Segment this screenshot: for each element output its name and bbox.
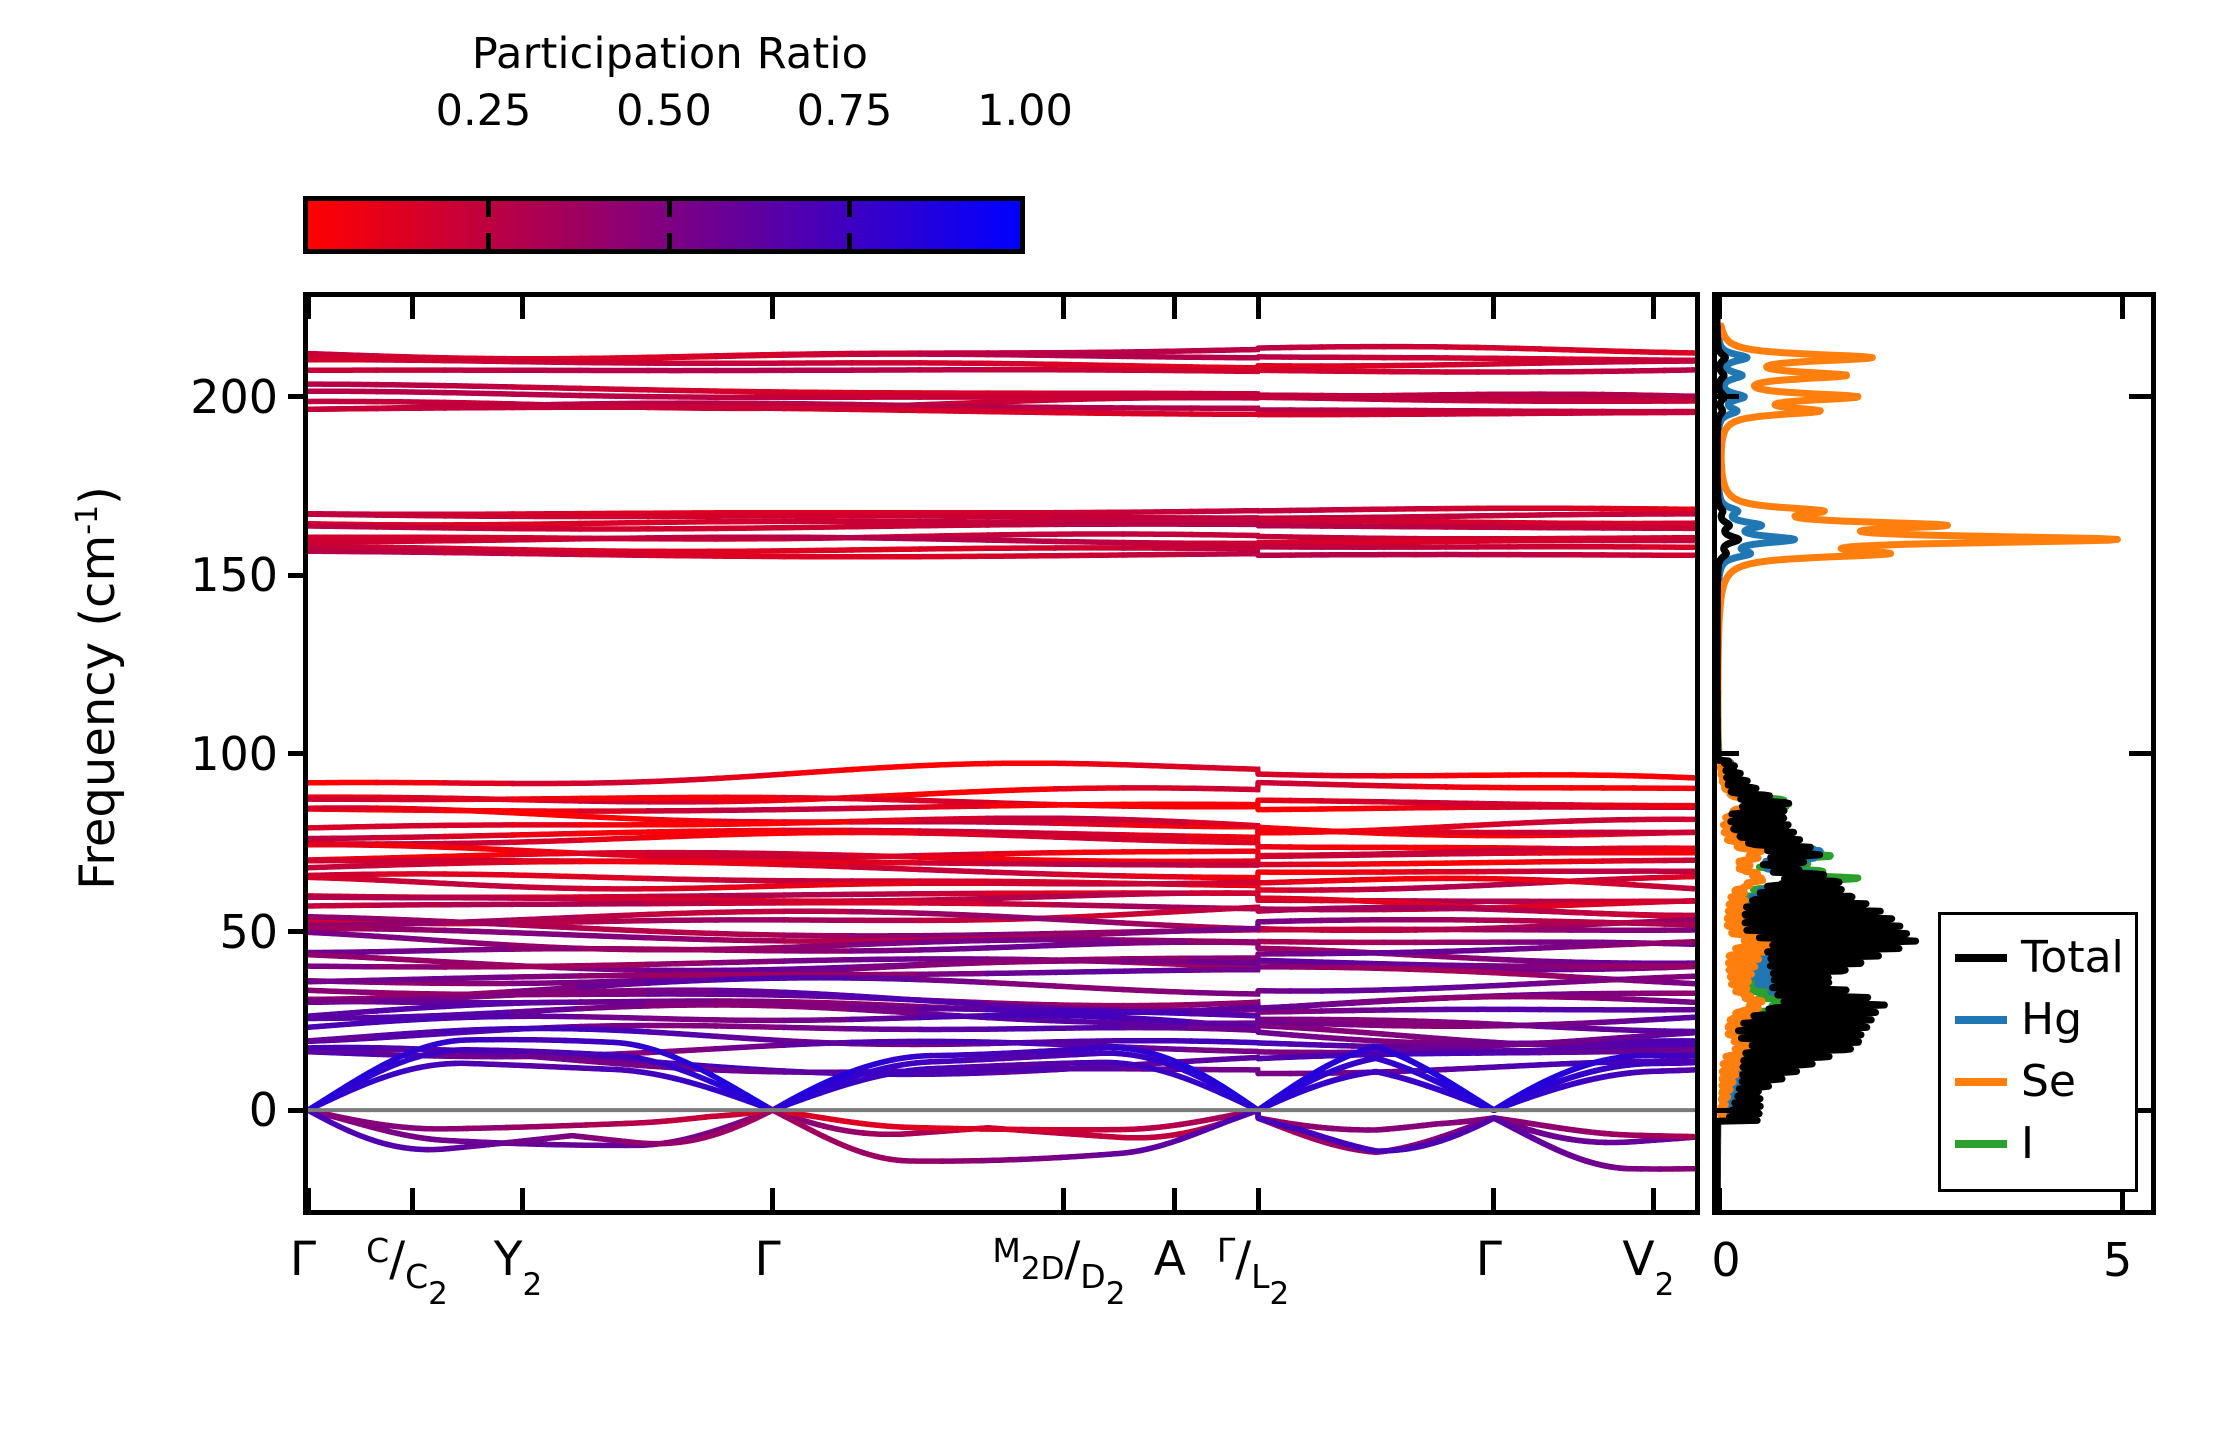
phonon-branch — [1383, 854, 1416, 855]
phonon-branch — [1321, 908, 1354, 909]
phonon-branch — [580, 358, 650, 359]
phonon-branch — [987, 1069, 1057, 1070]
y-axis-label-exponent: -1 — [70, 505, 105, 535]
colorbar-gradient — [303, 196, 1025, 254]
phonon-branch — [585, 1123, 627, 1125]
phonon-branch — [1190, 366, 1258, 368]
phonon-branch — [1445, 364, 1478, 365]
phonon-branch — [851, 526, 921, 527]
phonon-branch — [444, 995, 514, 998]
phonon-branch — [564, 1067, 603, 1069]
legend-entry[interactable]: I — [1941, 1113, 2135, 1175]
phonon-branch — [919, 948, 989, 950]
phonon-branch — [1352, 1010, 1385, 1011]
phonon-branch — [1601, 922, 1634, 923]
phonon-branch — [919, 791, 989, 794]
kpath-tick — [1172, 297, 1177, 319]
phonon-branch — [444, 540, 514, 541]
phonon-branch — [376, 950, 446, 951]
phonon-branch — [1383, 802, 1416, 803]
phonon-branch — [1321, 1024, 1354, 1025]
phonon-branch — [1539, 1041, 1572, 1043]
phonon-branch — [715, 969, 785, 970]
phonon-branch — [444, 855, 514, 857]
phonon-branch — [919, 899, 989, 901]
phonon-branch — [647, 824, 717, 825]
phonon-branch — [1122, 906, 1192, 908]
colorbar-title: Participation Ratio — [300, 28, 1040, 80]
phonon-branch — [527, 1051, 566, 1053]
phonon-branch — [512, 992, 582, 995]
phonon-branch — [1122, 554, 1192, 555]
phonon-branch — [1321, 899, 1354, 900]
phonon-branch — [625, 1141, 667, 1143]
phonon-branch — [308, 526, 378, 527]
phonon-branch — [715, 911, 785, 912]
phonon-branch — [1570, 912, 1603, 913]
phonon-branch — [1100, 1136, 1142, 1138]
phonon-branch — [546, 1136, 588, 1139]
phonon-branch — [1414, 827, 1447, 829]
phonon-branch — [1508, 1043, 1541, 1045]
kpath-tick-label: Γ — [1476, 1232, 1502, 1288]
dos-y-tick — [1717, 751, 1739, 756]
phonon-branch — [1055, 971, 1125, 972]
phonon-branch — [1122, 356, 1192, 357]
phonon-branch — [308, 925, 378, 926]
phonon-branch — [1477, 1023, 1510, 1025]
phonon-branch — [715, 1026, 785, 1027]
phonon-branch — [851, 894, 921, 895]
phonon-branch — [1289, 920, 1322, 921]
legend-entry[interactable]: Hg — [1941, 989, 2135, 1051]
phonon-branch — [376, 360, 446, 361]
phonon-branch — [1539, 849, 1572, 850]
phonon-branch — [1352, 1032, 1385, 1035]
phonon-branch — [308, 865, 378, 867]
phonon-branch — [1508, 822, 1541, 824]
kpath-tick — [1061, 297, 1066, 319]
phonon-branch — [893, 1062, 932, 1067]
phonon-branch — [647, 390, 717, 391]
phonon-branch — [1633, 923, 1666, 924]
phonon-branch — [308, 409, 378, 410]
phonon-branch — [1352, 801, 1385, 802]
phonon-branch — [580, 914, 650, 917]
phonon-branch — [1539, 1026, 1572, 1028]
phonon-branch — [783, 945, 853, 948]
phonon-branch — [512, 925, 582, 928]
phonon-branch — [783, 833, 853, 834]
phonon-branch — [546, 1144, 588, 1145]
phonon-branch — [987, 400, 1057, 402]
phonon-branch — [580, 1026, 650, 1027]
phonon-branch — [919, 818, 989, 819]
phonon-branch — [580, 990, 650, 992]
phonon-branch — [987, 945, 1057, 948]
phonon-branch — [1508, 906, 1541, 907]
phonon-branch — [851, 1029, 921, 1030]
phonon-branch — [444, 386, 514, 387]
colorbar-tick-label: 0.50 — [616, 86, 712, 136]
phonon-branch — [1601, 775, 1634, 776]
phonon-branch — [987, 853, 1057, 854]
phonon-branch — [1539, 982, 1572, 984]
phonon-branch — [1190, 414, 1258, 415]
phonon-branch — [1055, 788, 1125, 789]
phonon-branch — [1383, 964, 1416, 965]
legend-entry[interactable]: Total — [1941, 927, 2135, 989]
y-axis-tick — [288, 751, 308, 756]
phonon-branch — [444, 874, 514, 875]
phonon-branch — [851, 833, 921, 834]
phonon-branch — [1445, 986, 1478, 987]
phonon-branch — [1633, 395, 1666, 396]
phonon-branch — [376, 808, 446, 810]
phonon-branch — [1664, 877, 1695, 878]
phonon-branch — [1601, 1029, 1634, 1030]
phonon-branch — [783, 894, 853, 895]
phonon-branch — [376, 864, 446, 866]
phonon-branch — [823, 1118, 865, 1124]
phonon-branch — [1477, 1066, 1510, 1068]
phonon-branch — [376, 993, 446, 995]
dos-curve-total — [1717, 297, 1916, 1210]
phonon-branch — [1055, 818, 1125, 819]
phonon-branch — [444, 825, 514, 826]
phonon-branch — [512, 933, 582, 936]
phonon-branch — [715, 403, 785, 404]
phonon-branch — [919, 800, 989, 802]
phonon-branch — [1414, 998, 1447, 999]
phonon-branch — [1055, 763, 1125, 765]
phonon-branch — [580, 899, 650, 900]
phonon-branch — [783, 884, 853, 886]
phonon-branch — [783, 527, 853, 528]
phonon-branch — [647, 1005, 717, 1006]
phonon-branch — [1414, 1037, 1447, 1040]
phonon-branch — [1258, 1057, 1291, 1059]
phonon-branch — [1289, 1044, 1322, 1045]
phonon-branch — [1414, 516, 1447, 517]
phonon-branch — [1383, 999, 1416, 1001]
colorbar-tick — [667, 233, 672, 249]
phonon-branch — [1352, 1025, 1385, 1026]
phonon-branch — [1258, 1026, 1291, 1028]
phonon-branch — [1075, 1048, 1114, 1050]
phonon-branch — [1664, 1050, 1695, 1051]
phonon-branch — [580, 1006, 650, 1009]
phonon-branch — [647, 537, 717, 538]
phonon-branch — [783, 854, 853, 856]
phonon-branch — [376, 979, 446, 981]
phonon-branch — [512, 524, 582, 525]
phonon-branch — [308, 990, 378, 992]
y-axis-tick-label: 150 — [190, 552, 278, 598]
phonon-branch — [851, 965, 921, 969]
phonon-branch — [919, 941, 989, 943]
phonon-branch — [1190, 348, 1258, 351]
phonon-branch — [1570, 362, 1603, 363]
phonon-branch — [1352, 953, 1385, 954]
phonon-branch — [715, 556, 785, 557]
phonon-branch — [1060, 1133, 1102, 1136]
phonon-branch — [444, 548, 514, 549]
phonon-branch — [580, 396, 650, 397]
phonon-branch — [376, 905, 446, 906]
y-axis-tick — [288, 1108, 308, 1113]
phonon-branch — [1352, 889, 1385, 890]
phonon-branch — [444, 930, 514, 932]
phonon-branch — [1539, 961, 1572, 962]
phonon-branch — [987, 982, 1057, 986]
phonon-branch — [580, 798, 650, 799]
phonon-branch — [987, 961, 1057, 963]
phonon-branch — [1664, 1017, 1695, 1019]
phonon-branch — [1445, 803, 1478, 804]
colorbar-tick-label: 1.00 — [977, 86, 1073, 136]
phonon-branch — [647, 356, 717, 358]
phonon-branch — [580, 363, 650, 364]
phonon-branch — [783, 537, 853, 538]
phonon-branch — [919, 973, 989, 974]
phonon-branch — [1570, 945, 1603, 947]
colorbar-tick — [486, 201, 491, 217]
phonon-branch — [1139, 1134, 1181, 1138]
phonon-branch — [902, 1131, 944, 1134]
phonon-branch — [376, 1018, 446, 1022]
phonon-branch — [1289, 775, 1322, 776]
kpath-tick-label: Γ — [755, 1232, 781, 1288]
phonon-branch — [1055, 398, 1125, 400]
phonon-branch — [580, 921, 650, 922]
phonon-branch — [1383, 968, 1416, 969]
phonon-branch — [1289, 510, 1322, 511]
phonon-branch — [308, 905, 378, 906]
phonon-branch — [1445, 997, 1478, 998]
phonon-branch — [987, 805, 1057, 806]
phonon-branch — [1445, 1022, 1478, 1023]
phonon-branch — [444, 842, 514, 843]
phonon-branch — [1122, 876, 1192, 877]
phonon-branch — [1383, 989, 1416, 990]
phonon-branch — [527, 1040, 566, 1041]
phonon-branch — [308, 877, 378, 880]
phonon-branch — [444, 524, 514, 525]
phonon-branch — [580, 403, 650, 404]
phonon-branch — [1383, 952, 1416, 953]
phonon-branch — [444, 835, 514, 837]
phonon-branch — [1539, 1064, 1572, 1065]
phonon-band-structure-panel: 050100150200 — [303, 292, 1700, 1215]
kpath-tick — [1256, 1188, 1261, 1210]
phonon-branch — [929, 1067, 968, 1069]
phonon-branch — [1539, 821, 1572, 822]
phonon-branch — [1633, 977, 1666, 978]
phonon-branch — [715, 1045, 785, 1049]
phonon-branch — [715, 863, 785, 865]
phonon-branch — [981, 1129, 1023, 1130]
phonon-branch — [647, 810, 717, 811]
phonon-branch — [1445, 971, 1478, 973]
phonon-branch — [580, 782, 650, 784]
phonon-branch — [1122, 825, 1192, 827]
dos-x-tick-label: 5 — [2103, 1232, 2132, 1288]
phonon-branch — [1633, 352, 1666, 353]
phonon-branch — [1508, 1065, 1541, 1067]
phonon-branch — [783, 798, 853, 799]
phonon-branch — [1633, 1019, 1666, 1021]
phonon-branch — [580, 551, 650, 552]
phonon-branch — [851, 974, 921, 975]
phonon-branch — [512, 853, 582, 854]
phonon-branch — [647, 888, 717, 889]
phonon-branch — [376, 845, 446, 847]
phonon-branch — [1508, 948, 1541, 949]
phonon-branch — [919, 833, 989, 835]
kpath-tick — [1651, 1188, 1656, 1210]
phonon-branch — [987, 822, 1057, 823]
phonon-branch — [1321, 1011, 1354, 1012]
phonon-branch — [1122, 893, 1192, 894]
phonon-branch — [987, 540, 1057, 541]
y-axis-label-tail: ) — [70, 486, 126, 505]
phonon-branch — [444, 553, 514, 554]
phonon-branch — [1477, 909, 1510, 910]
phonon-branch — [1122, 970, 1192, 971]
phonon-branch — [1414, 365, 1447, 366]
phonon-branch — [1664, 924, 1695, 925]
phonon-branch — [512, 949, 582, 950]
phonon-branch — [1190, 851, 1258, 855]
band-plot-area — [308, 297, 1695, 1210]
phonon-branch — [1539, 905, 1572, 906]
phonon-branch — [715, 833, 785, 835]
phonon-branch — [1352, 963, 1385, 964]
phonon-branch — [1508, 862, 1541, 863]
kpath-tick — [306, 1188, 311, 1210]
phonon-branch — [929, 1060, 968, 1062]
phonon-branch — [1664, 920, 1695, 921]
phonon-branch — [427, 1128, 469, 1129]
phonon-branch — [1321, 967, 1354, 968]
phonon-branch — [1539, 363, 1572, 364]
phonon-branch — [1055, 541, 1125, 542]
phonon-branch — [376, 929, 446, 930]
phonon-branch — [987, 363, 1057, 364]
phonon-branch — [427, 1139, 469, 1142]
phonon-branch — [512, 1002, 582, 1003]
phonon-branch — [1633, 877, 1666, 878]
phonon-branch — [715, 1070, 785, 1072]
phonon-branch — [1258, 948, 1291, 949]
phonon-branch — [1258, 1012, 1291, 1013]
phonon-branch — [580, 832, 650, 834]
phonon-branch — [308, 966, 378, 967]
phonon-branch — [966, 1053, 1005, 1055]
phonon-branch — [1414, 955, 1447, 957]
y-axis-tick — [288, 929, 308, 934]
phonon-branch — [647, 879, 717, 880]
phonon-branch — [1477, 348, 1510, 349]
phonon-branch — [1055, 804, 1125, 805]
phonon-branch — [1539, 925, 1572, 926]
phonon-branch — [647, 831, 717, 832]
phonon-branch — [1633, 1030, 1666, 1031]
phonon-branch — [1570, 997, 1603, 998]
phonon-branch — [444, 862, 514, 863]
phonon-branch — [1383, 1026, 1416, 1027]
y-axis-label: Frequency (cm-1) — [70, 368, 126, 1008]
phonon-branch — [1258, 1052, 1291, 1053]
phonon-branch — [1477, 949, 1510, 950]
phonon-branch — [376, 880, 446, 884]
phonon-branch — [1055, 352, 1125, 353]
phonon-branch — [647, 896, 717, 897]
phonon-branch — [1664, 1001, 1695, 1003]
phonon-branch — [387, 1131, 429, 1139]
phonon-branch — [647, 899, 717, 900]
phonon-branch — [1190, 960, 1258, 963]
kpath-tick — [770, 297, 775, 319]
y-axis-label-main: Frequency (cm — [70, 535, 126, 890]
phonon-branch — [1190, 893, 1258, 898]
phonon-branch — [1633, 776, 1666, 777]
phonon-branch — [1190, 1050, 1258, 1052]
legend-line-swatch — [1955, 1078, 2007, 1086]
phonon-branch — [1508, 883, 1541, 885]
colorbar-tick-label: 0.75 — [797, 86, 893, 136]
phonon-branch — [715, 355, 785, 356]
phonon-branch — [512, 875, 582, 877]
phonon-branch — [1190, 1058, 1258, 1062]
phonon-branch — [506, 1126, 548, 1127]
phonon-branch — [1289, 899, 1322, 900]
phonon-branch — [1289, 537, 1322, 538]
phonon-branch — [1060, 1155, 1102, 1158]
legend-entry[interactable]: Se — [1941, 1051, 2135, 1113]
phonon-branch — [1289, 783, 1322, 784]
phonon-branch — [1383, 1020, 1416, 1021]
phonon-branch — [1190, 954, 1258, 958]
phonon-branch — [987, 534, 1057, 535]
phonon-branch — [512, 394, 582, 396]
phonon-branch — [783, 808, 853, 809]
phonon-branch — [715, 391, 785, 392]
phonon-branch — [987, 1042, 1057, 1044]
phonon-branch — [919, 1016, 989, 1018]
phonon-branch — [1122, 543, 1192, 544]
phonon-branch — [376, 1006, 446, 1011]
phonon-branch — [783, 960, 853, 961]
phonon-branch — [1633, 999, 1666, 1001]
phonon-branch — [987, 872, 1057, 874]
phonon-branch — [580, 801, 650, 802]
phonon-branch — [1258, 348, 1291, 349]
phonon-branch — [1055, 905, 1125, 907]
phonon-branch — [427, 1147, 469, 1150]
phonon-branch — [512, 898, 582, 899]
phonon-branch — [1122, 765, 1192, 767]
phonon-branch — [783, 865, 853, 867]
phonon-branch — [444, 1029, 514, 1032]
phonon-branch — [1383, 399, 1416, 400]
phonon-branch — [1122, 990, 1192, 993]
phonon-branch — [919, 406, 989, 407]
phonon-branch — [862, 1124, 904, 1128]
phonon-branch — [919, 525, 989, 526]
kpath-tick — [1256, 297, 1261, 319]
